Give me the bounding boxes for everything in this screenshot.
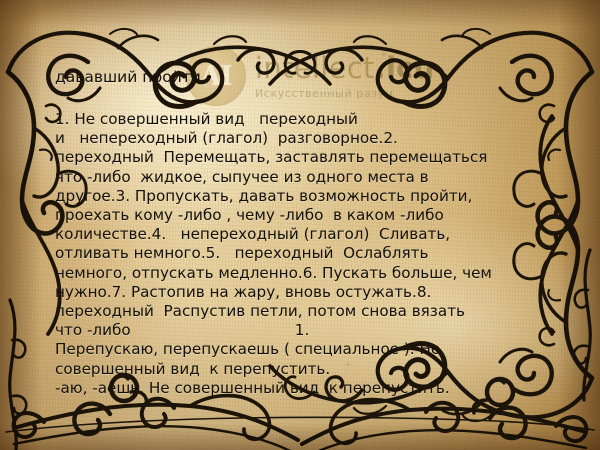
ornament-circle-curl-left — [111, 375, 146, 404]
parchment-page: AI intellect.icu Искусственный разум дав… — [0, 0, 600, 450]
ornament-layer — [0, 0, 600, 450]
ornamental-border — [0, 0, 600, 450]
ornament-bottom-left-sweep — [14, 396, 300, 450]
